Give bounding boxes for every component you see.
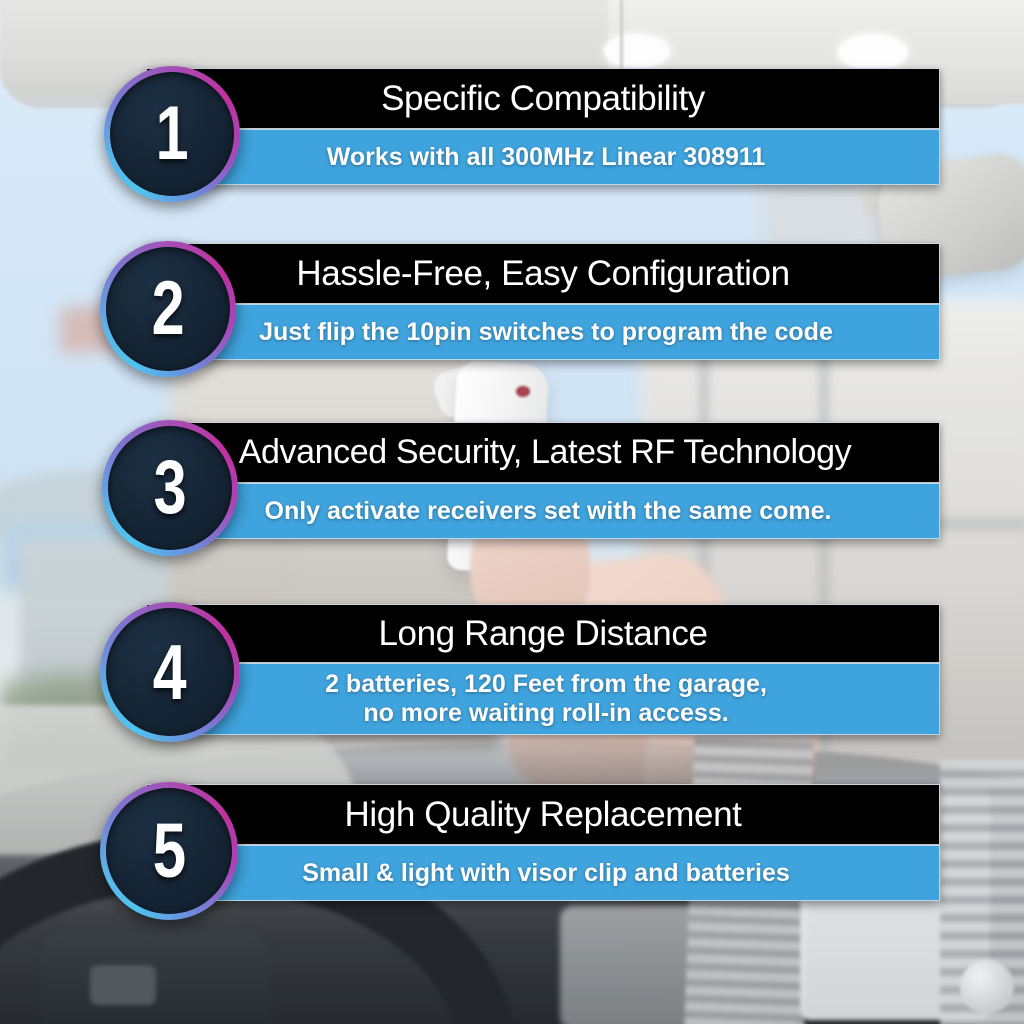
- badge-inner-3: 3: [108, 426, 232, 550]
- feature-bars-4: Long Range Distance 2 batteries, 120 Fee…: [146, 604, 940, 735]
- feature-subtitle-5: Small & light with visor clip and batter…: [152, 845, 940, 901]
- feature-subtitle-2: Just flip the 10pin switches to program …: [152, 304, 940, 360]
- feature-subtitle-4: 2 batteries, 120 Feet from the garage, n…: [152, 663, 940, 735]
- badge-inner-5: 5: [106, 788, 232, 914]
- feature-bars-1: Specific Compatibility Works with all 30…: [146, 68, 940, 185]
- feature-title-1: Specific Compatibility: [146, 68, 940, 129]
- feature-number-3: 3: [154, 450, 187, 526]
- feature-bars-5: High Quality Replacement Small & light w…: [146, 784, 940, 901]
- feature-number-5: 5: [152, 813, 185, 890]
- feature-bars-3: Advanced Security, Latest RF Technology …: [150, 422, 940, 539]
- feature-badge-1: 1: [104, 66, 240, 202]
- feature-title-4: Long Range Distance: [146, 604, 940, 663]
- feature-badge-2: 2: [100, 241, 236, 377]
- badge-inner-4: 4: [106, 608, 234, 736]
- feature-number-2: 2: [152, 271, 185, 347]
- infographic-canvas: Specific Compatibility Works with all 30…: [0, 0, 1024, 1024]
- feature-title-3: Advanced Security, Latest RF Technology: [150, 422, 940, 483]
- feature-title-5: High Quality Replacement: [146, 784, 940, 845]
- feature-list: Specific Compatibility Works with all 30…: [0, 0, 1024, 1024]
- feature-badge-3: 3: [102, 420, 238, 556]
- feature-bars-2: Hassle-Free, Easy Configuration Just fli…: [146, 243, 940, 360]
- feature-subtitle-1: Works with all 300MHz Linear 308911: [152, 129, 940, 185]
- feature-badge-4: 4: [100, 602, 240, 742]
- badge-inner-1: 1: [110, 72, 234, 196]
- feature-subtitle-4-line-1: 2 batteries, 120 Feet from the garage,: [325, 670, 767, 699]
- badge-inner-2: 2: [106, 247, 230, 371]
- feature-badge-5: 5: [100, 782, 238, 920]
- feature-subtitle-4-line-2: no more waiting roll-in access.: [363, 699, 728, 728]
- feature-number-4: 4: [153, 633, 187, 711]
- feature-number-1: 1: [156, 96, 189, 172]
- feature-subtitle-3: Only activate receivers set with the sam…: [156, 483, 940, 539]
- feature-title-2: Hassle-Free, Easy Configuration: [146, 243, 940, 304]
